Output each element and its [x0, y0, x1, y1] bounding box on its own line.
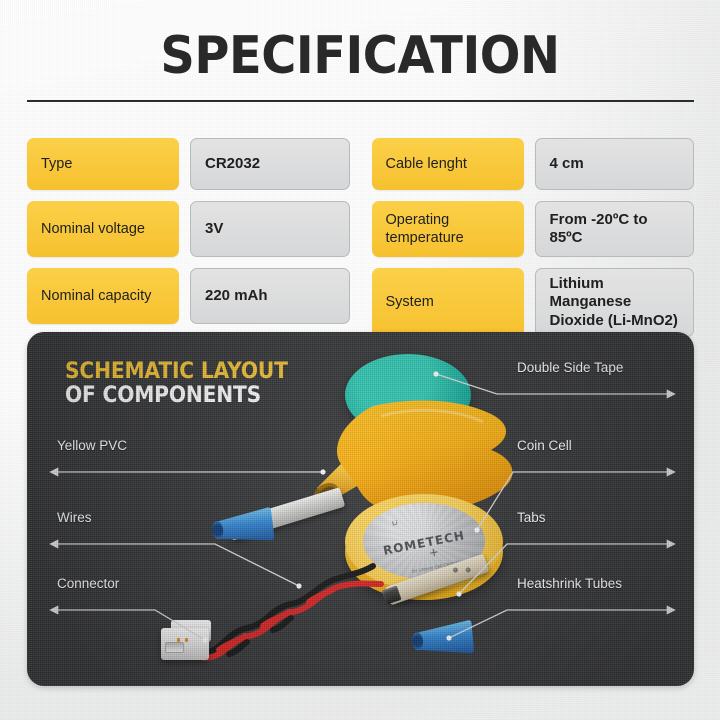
spec-column-left: Type CR2032 Nominal voltage 3V Nominal c…: [27, 138, 350, 348]
label-double-side-tape: Double Side Tape: [517, 360, 623, 375]
spec-value: From -20ºC to 85ºC: [535, 201, 695, 257]
spec-key: Nominal capacity: [27, 268, 179, 324]
spec-key: Operating temperature: [372, 201, 524, 257]
label-connector: Connector: [57, 576, 119, 591]
spec-value: 4 cm: [535, 138, 695, 190]
schematic-canvas: SCHEMATIC LAYOUT OF COMPONENTS: [27, 332, 694, 686]
spec-value: CR2032: [190, 138, 350, 190]
spec-value: Lithium Manganese Dioxide (Li-MnO2): [535, 268, 695, 337]
title-divider: [27, 100, 694, 102]
spec-column-right: Cable lenght 4 cm Operating temperature …: [372, 138, 695, 348]
label-coin-cell: Coin Cell: [517, 438, 572, 453]
label-wires: Wires: [57, 510, 92, 525]
specification-page: SPECIFICATION Type CR2032 Nominal voltag…: [0, 0, 720, 720]
specification-table: Type CR2032 Nominal voltage 3V Nominal c…: [27, 138, 694, 348]
leader-lines: [27, 332, 694, 686]
spec-key: Type: [27, 138, 179, 190]
spec-value: 220 mAh: [190, 268, 350, 324]
spec-row: System Lithium Manganese Dioxide (Li-MnO…: [372, 268, 695, 337]
spec-row: Nominal voltage 3V: [27, 201, 350, 257]
spec-key: Nominal voltage: [27, 201, 179, 257]
spec-row: Operating temperature From -20ºC to 85ºC: [372, 201, 695, 257]
page-title: SPECIFICATION: [29, 26, 691, 86]
label-tabs: Tabs: [517, 510, 546, 525]
spec-key: Cable lenght: [372, 138, 524, 190]
spec-key: System: [372, 268, 524, 337]
spec-row: Cable lenght 4 cm: [372, 138, 695, 190]
label-yellow-pvc: Yellow PVC: [57, 438, 127, 453]
spec-row: Type CR2032: [27, 138, 350, 190]
label-heatshrink-tubes: Heatshrink Tubes: [517, 576, 622, 591]
spec-value: 3V: [190, 201, 350, 257]
spec-row: Nominal capacity 220 mAh: [27, 268, 350, 324]
schematic-panel: SCHEMATIC LAYOUT OF COMPONENTS: [27, 332, 694, 686]
